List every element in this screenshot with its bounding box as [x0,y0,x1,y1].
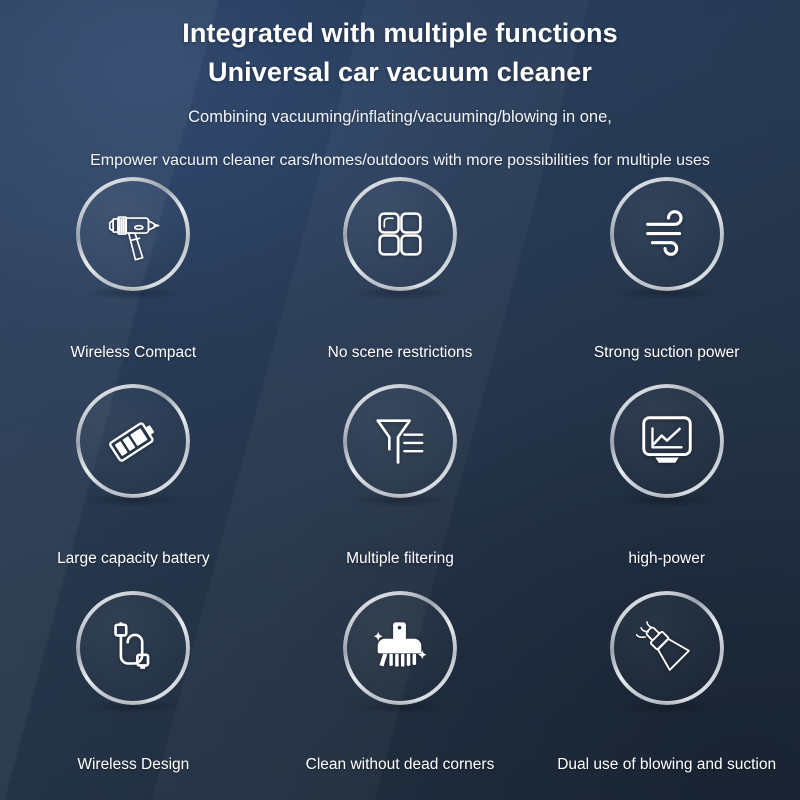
feature-item-clean-without-dead-corners[interactable]: Clean without dead corners [267,590,534,797]
header: Integrated with multiple functions Unive… [0,0,800,169]
feature-item-strong-suction-power[interactable]: Strong suction power [533,176,800,383]
feature-label: Strong suction power [594,345,740,361]
feature-item-multiple-filtering[interactable]: Multiple filtering [267,383,534,590]
promo-banner: Integrated with multiple functions Unive… [0,0,800,800]
feature-label: high-power [628,551,705,567]
blow-suction-nozzle-icon [636,617,698,679]
wind-airflow-icon [636,203,698,265]
icon-circle [610,177,724,291]
icon-circle [343,591,457,705]
feature-item-wireless-design[interactable]: Wireless Design [0,590,267,797]
subtitle-line-1: Combining vacuuming/inflating/vacuuming/… [0,109,800,126]
monitor-chart-icon [636,410,698,472]
icon-circle [76,177,190,291]
usb-cable-icon [102,617,164,679]
icon-circle [76,384,190,498]
feature-label: Clean without dead corners [306,757,495,773]
cleaning-brush-icon [369,617,431,679]
icon-circle [343,384,457,498]
subtitle-line-2: Empower vacuum cleaner cars/homes/outdoo… [0,153,800,169]
feature-item-high-power[interactable]: high-power [533,383,800,590]
grid-squares-icon [369,203,431,265]
vacuum-gun-icon [102,203,164,265]
feature-label: Wireless Design [77,757,189,773]
feature-label: Wireless Compact [70,345,196,361]
feature-item-wireless-compact[interactable]: Wireless Compact [0,176,267,383]
icon-circle [343,177,457,291]
icon-circle [610,384,724,498]
feature-label: Large capacity battery [57,551,210,567]
feature-label: No scene restrictions [328,345,473,361]
battery-icon [102,410,164,472]
icon-circle [76,591,190,705]
feature-item-large-capacity-battery[interactable]: Large capacity battery [0,383,267,590]
page-title-line-2: Universal car vacuum cleaner [0,59,800,86]
funnel-filter-icon [369,410,431,472]
page-title-line-1: Integrated with multiple functions [0,20,800,47]
feature-item-dual-use-blowing-suction[interactable]: Dual use of blowing and suction [533,590,800,797]
feature-label: Dual use of blowing and suction [557,757,776,773]
feature-item-no-scene-restrictions[interactable]: No scene restrictions [267,176,534,383]
feature-label: Multiple filtering [346,551,454,567]
feature-grid: Wireless Compact No scene restrictions [0,176,800,797]
icon-circle [610,591,724,705]
